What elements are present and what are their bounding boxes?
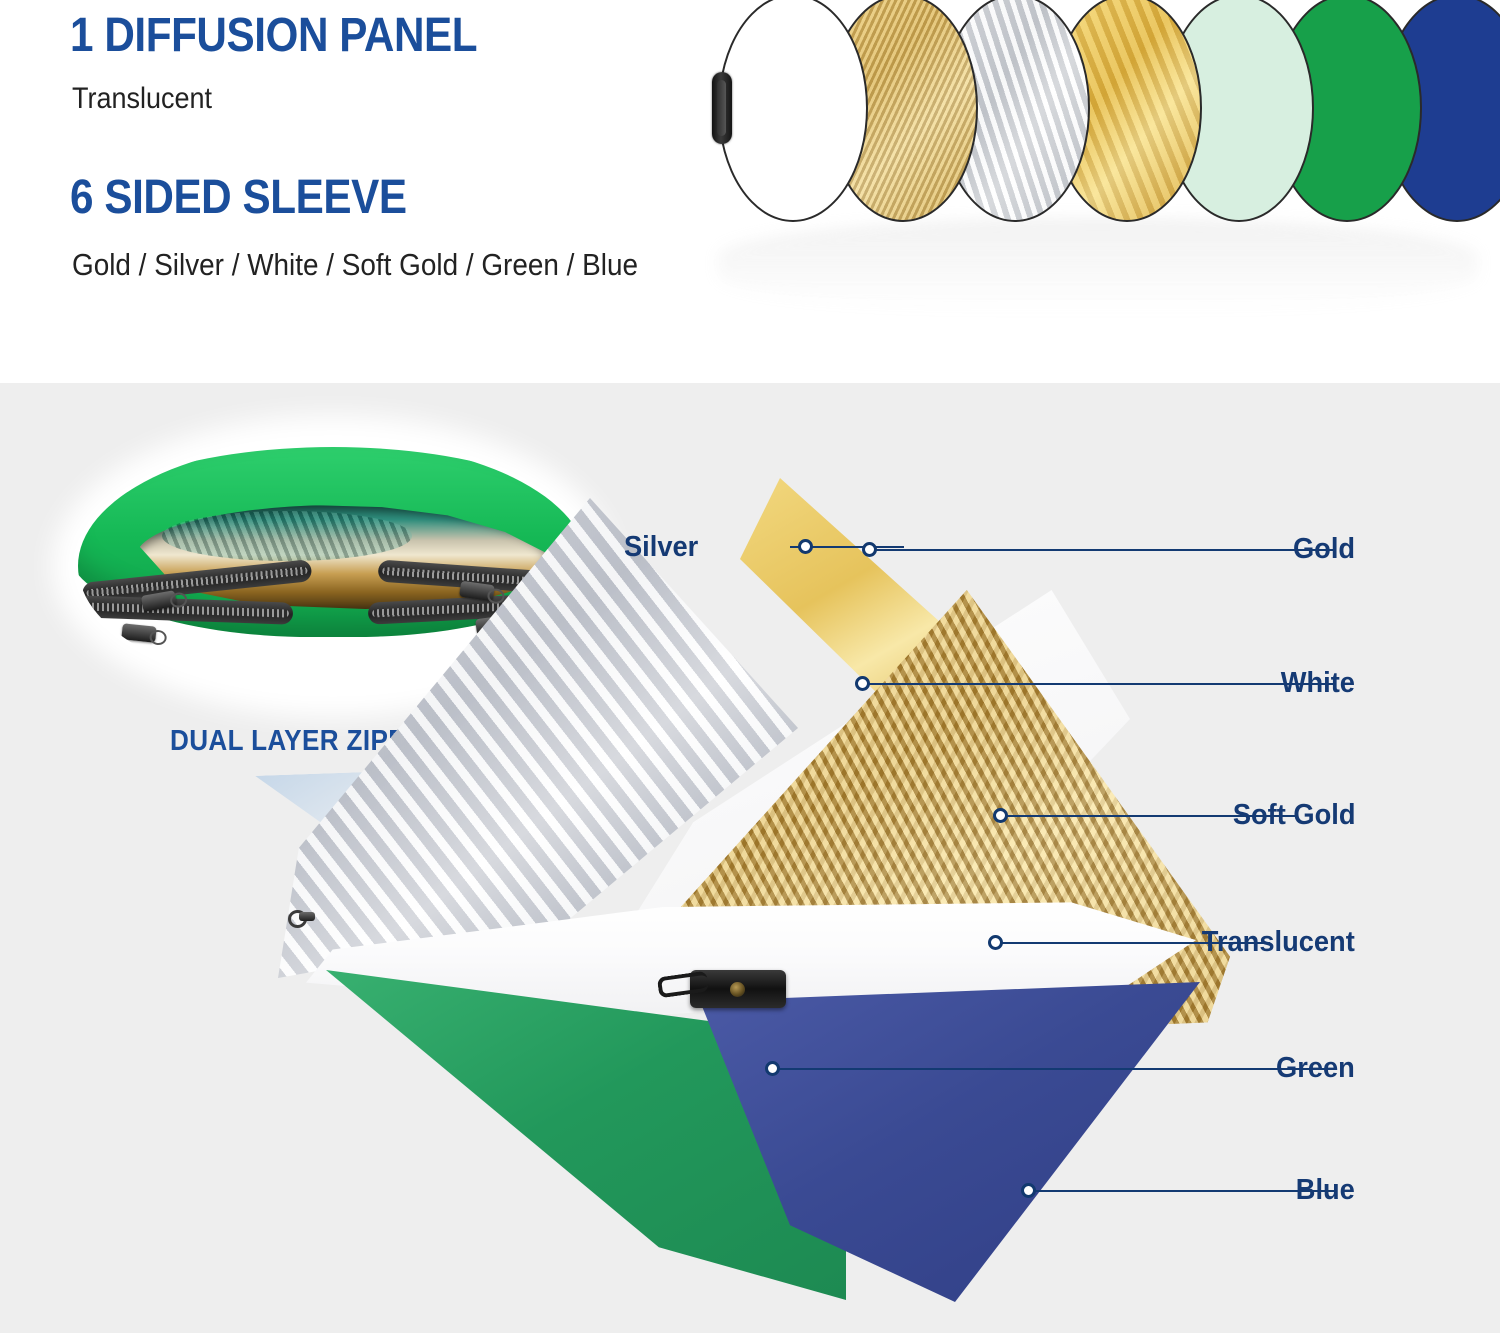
- callout-label-soft-gold: Soft Gold: [1232, 799, 1355, 832]
- callout-dot-gold: [862, 542, 877, 557]
- callout-dot-soft-gold: [993, 808, 1008, 823]
- callout-label-green: Green: [1276, 1052, 1355, 1085]
- reflector-disc-cluster: [700, 0, 1490, 294]
- callout-line-white: [862, 683, 1335, 685]
- callout-dot-white: [855, 676, 870, 691]
- left-tip-zipper-pull-icon: [288, 908, 314, 924]
- disc-white: [718, 0, 868, 222]
- zipper-pull-icon: [121, 623, 156, 642]
- callout-line-blue: [1028, 1190, 1335, 1192]
- sided-sleeve-heading: 6 SIDED SLEEVE: [70, 170, 407, 225]
- diffusion-panel-subtitle: Translucent: [72, 82, 212, 116]
- callout-label-silver: Silver: [624, 531, 698, 564]
- multi-disc-reflector-illustration: [270, 470, 1210, 1300]
- diffusion-panel-heading: 1 DIFFUSION PANEL: [70, 8, 477, 63]
- callout-label-gold: Gold: [1293, 533, 1355, 566]
- callout-dot-silver: [798, 539, 813, 554]
- callout-dot-translucent: [988, 935, 1003, 950]
- center-grommet-icon: [730, 982, 745, 997]
- callout-line-green: [772, 1068, 1334, 1070]
- callout-dot-green: [765, 1061, 780, 1076]
- disc-handle-icon: [712, 72, 732, 144]
- callout-label-white: White: [1281, 667, 1355, 700]
- header-section: 1 DIFFUSION PANEL Translucent 6 SIDED SL…: [0, 0, 1500, 383]
- callout-dot-blue: [1021, 1183, 1036, 1198]
- callout-label-translucent: Translucent: [1202, 926, 1355, 959]
- sleeve-colors-subtitle: Gold / Silver / White / Soft Gold / Gree…: [72, 247, 638, 283]
- callout-line-gold: [870, 549, 1335, 551]
- callout-label-blue: Blue: [1296, 1174, 1355, 1207]
